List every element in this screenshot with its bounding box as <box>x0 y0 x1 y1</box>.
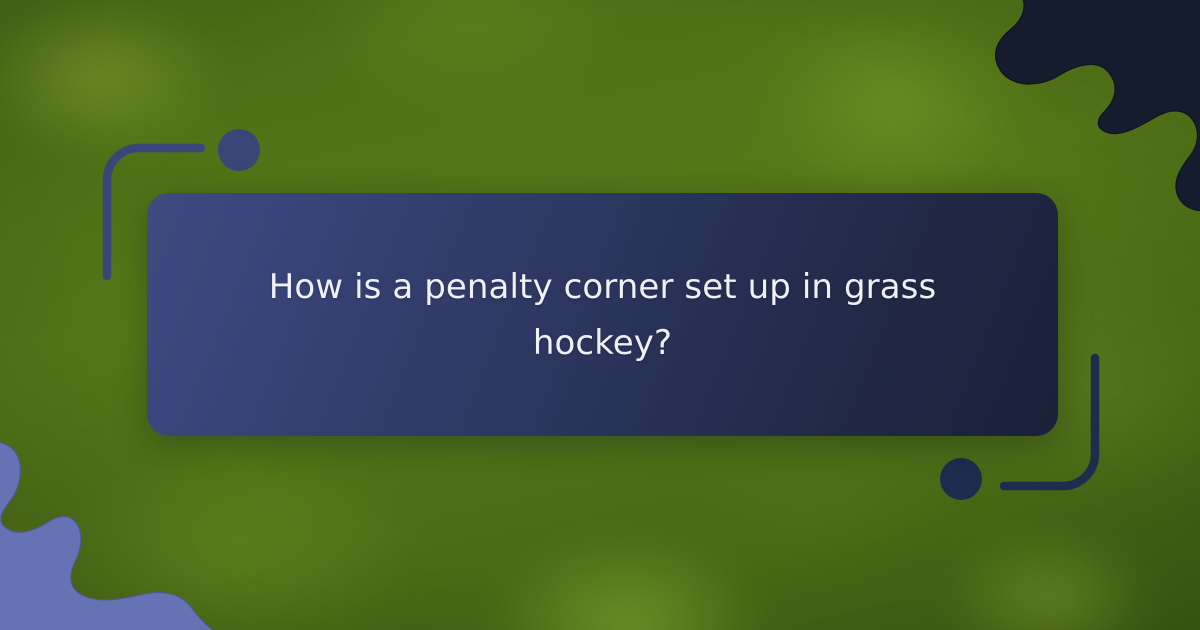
blob-bottom-left <box>0 442 213 630</box>
dot-bottom-right <box>940 458 982 500</box>
blob-top-right <box>992 0 1200 211</box>
question-card-graphic: How is a penalty corner set up in grass … <box>0 0 1200 630</box>
question-title: How is a penalty corner set up in grass … <box>209 259 996 371</box>
dot-top-left <box>218 129 260 171</box>
question-card: How is a penalty corner set up in grass … <box>147 193 1058 436</box>
